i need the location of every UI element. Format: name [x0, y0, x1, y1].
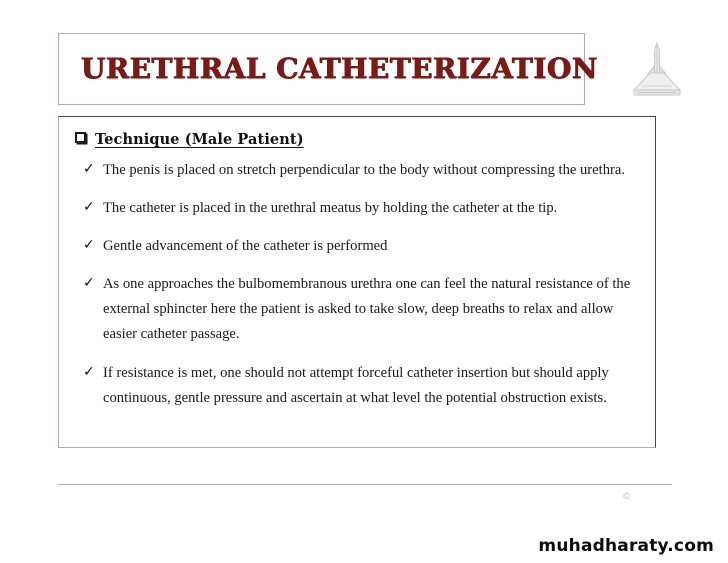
list-item-text: The penis is placed on stretch perpendic…	[103, 162, 625, 178]
list-item-text: Gentle advancement of the catheter is pe…	[103, 238, 387, 254]
content-box: Technique (Male Patient) ✓ The penis is …	[58, 116, 656, 448]
list-item: ✓ The penis is placed on stretch perpend…	[73, 158, 641, 183]
title-box: Urethral Catheterization	[58, 33, 585, 105]
check-mark-icon: ✓	[83, 362, 95, 384]
list-item: ✓ The catheter is placed in the urethral…	[73, 196, 641, 221]
check-mark-icon: ✓	[83, 235, 95, 257]
footer-divider	[58, 484, 672, 485]
list-item: ✓ If resistance is met, one should not a…	[73, 361, 641, 411]
list-item-text: As one approaches the bulbomembranous ur…	[103, 276, 630, 342]
hollow-square-bullet-icon	[75, 132, 86, 143]
technique-points-list: ✓ The penis is placed on stretch perpend…	[73, 158, 641, 411]
check-mark-icon: ✓	[83, 159, 95, 181]
page-title: Urethral Catheterization	[59, 54, 598, 83]
list-item-text: The catheter is placed in the urethral m…	[103, 200, 557, 216]
check-mark-icon: ✓	[83, 273, 95, 295]
copyright-mark: ©	[622, 492, 631, 502]
section-heading-label: Technique (Male Patient)	[95, 131, 304, 148]
check-mark-icon: ✓	[83, 197, 95, 219]
list-item: ✓ Gentle advancement of the catheter is …	[73, 234, 641, 259]
list-item-text: If resistance is met, one should not att…	[103, 365, 609, 406]
institution-emblem-icon	[628, 40, 686, 100]
slide-canvas: Urethral Catheterization	[0, 0, 728, 563]
site-watermark: muhadharaty.com	[538, 536, 714, 556]
section-heading: Technique (Male Patient)	[75, 131, 641, 148]
list-item: ✓ As one approaches the bulbomembranous …	[73, 272, 641, 347]
